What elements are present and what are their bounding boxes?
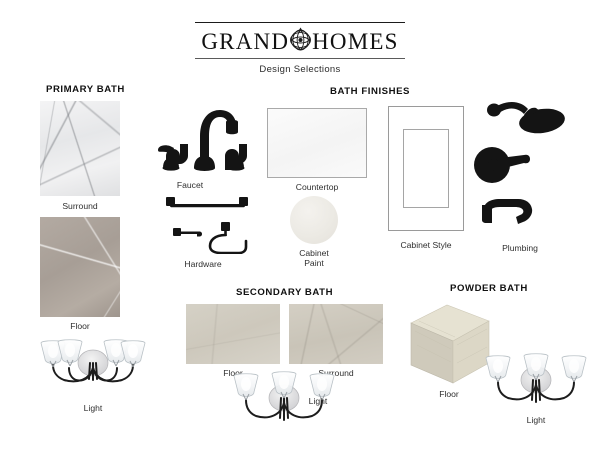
label-powder-floor: Floor xyxy=(414,389,484,399)
swatch-primary-floor[interactable] xyxy=(40,217,120,317)
vanity-light-3-icon-powder[interactable] xyxy=(480,350,592,412)
section-title-bath-finishes: BATH FINISHES xyxy=(330,86,410,97)
swatch-cabinet-paint[interactable] xyxy=(290,196,338,244)
swatch-secondary-surround[interactable] xyxy=(289,304,383,364)
label-countertop: Countertop xyxy=(267,182,367,192)
label-hardware: Hardware xyxy=(163,259,243,269)
label-secondary-light: Light xyxy=(288,396,348,406)
design-selections-board: GRAND HOMES Design Selections xyxy=(0,0,600,463)
brand-word-right: HOMES xyxy=(312,30,399,53)
shower-trim-set-icon[interactable] xyxy=(470,93,580,233)
label-faucet: Faucet xyxy=(150,180,230,190)
label-powder-light: Light xyxy=(506,415,566,425)
vanity-light-4-icon[interactable] xyxy=(28,337,158,399)
label-cabinet-paint: Cabinet Paint xyxy=(284,248,344,269)
bath-hardware-set-icon[interactable] xyxy=(160,192,255,254)
swatch-secondary-floor[interactable] xyxy=(186,304,280,364)
label-primary-surround: Surround xyxy=(40,201,120,211)
logo-rule-top xyxy=(195,22,405,23)
logo-subtitle: Design Selections xyxy=(0,64,600,75)
brand-word-left: GRAND xyxy=(201,30,289,53)
label-plumbing: Plumbing xyxy=(470,243,570,253)
label-primary-floor: Floor xyxy=(40,321,120,331)
widespread-faucet-icon[interactable] xyxy=(150,98,255,176)
logo-rule-bottom xyxy=(195,58,405,59)
swatch-primary-surround[interactable] xyxy=(40,101,120,196)
section-title-primary-bath: PRIMARY BATH xyxy=(46,84,125,95)
shaker-door-icon[interactable] xyxy=(388,106,464,231)
shaker-door-panel xyxy=(403,129,449,208)
swatch-countertop[interactable] xyxy=(267,108,367,178)
ornate-crest-icon xyxy=(287,26,314,56)
section-title-secondary-bath: SECONDARY BATH xyxy=(236,287,333,298)
label-primary-light: Light xyxy=(53,403,133,413)
section-title-powder-bath: POWDER BATH xyxy=(450,283,528,294)
brand-logo: GRAND HOMES Design Selections xyxy=(0,22,600,75)
label-cabinet-style: Cabinet Style xyxy=(386,240,466,250)
